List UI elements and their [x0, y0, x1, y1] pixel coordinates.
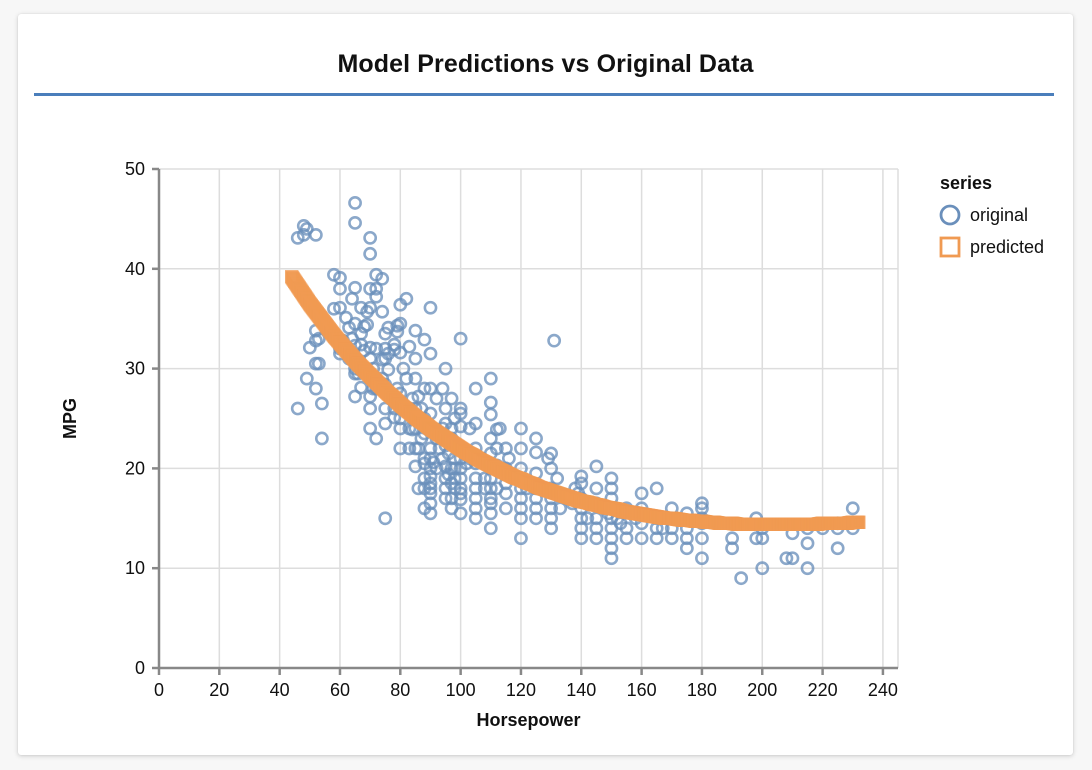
x-tick-label: 180 [687, 680, 717, 700]
chart-plot-container: 0204060801001201401601802002202400102030… [18, 14, 1073, 755]
x-tick-label: 80 [390, 680, 410, 700]
data-point-original [425, 302, 436, 313]
data-point-original [316, 433, 327, 444]
chart-axes [152, 169, 898, 675]
data-point-original [485, 409, 496, 420]
data-point-original [316, 398, 327, 409]
data-point-original [425, 348, 436, 359]
legend-marker-circle-icon [941, 206, 959, 224]
x-tick-label: 160 [627, 680, 657, 700]
data-point-original [552, 473, 563, 484]
data-point-original [847, 503, 858, 514]
data-point-original [832, 543, 843, 554]
legend-label-predicted: predicted [970, 237, 1044, 257]
data-point-original [410, 325, 421, 336]
data-point-original [404, 341, 415, 352]
data-point-original [446, 393, 457, 404]
data-point-original [310, 383, 321, 394]
data-point-original [591, 461, 602, 472]
x-tick-label: 240 [868, 680, 898, 700]
chart-card: Model Predictions vs Original Data 02040… [18, 14, 1073, 755]
data-point-original [377, 306, 388, 317]
data-point-original [530, 447, 541, 458]
y-tick-label: 20 [125, 458, 145, 478]
chart-legend[interactable]: seriesoriginalpredicted [940, 173, 1044, 257]
data-point-original [802, 538, 813, 549]
y-axis-title: MPG [60, 398, 80, 439]
legend-marker-square-icon [941, 238, 959, 256]
data-point-original [470, 383, 481, 394]
y-tick-label: 30 [125, 359, 145, 379]
x-tick-label: 0 [154, 680, 164, 700]
x-tick-label: 200 [747, 680, 777, 700]
data-point-original [301, 373, 312, 384]
legend-title: series [940, 173, 992, 193]
data-point-original [310, 229, 321, 240]
data-point-original [485, 373, 496, 384]
legend-item-predicted[interactable]: predicted [941, 237, 1044, 257]
x-tick-label: 20 [209, 680, 229, 700]
data-point-original [530, 433, 541, 444]
y-tick-label: 40 [125, 259, 145, 279]
data-point-original [437, 383, 448, 394]
x-axis-title: Horsepower [476, 710, 580, 730]
y-tick-label: 0 [135, 658, 145, 678]
data-point-original [485, 523, 496, 534]
data-point-original [410, 353, 421, 364]
data-point-original [380, 513, 391, 524]
x-tick-label: 140 [566, 680, 596, 700]
screenshot-root: Model Predictions vs Original Data 02040… [0, 0, 1092, 770]
data-point-original [500, 503, 511, 514]
legend-label-original: original [970, 205, 1028, 225]
data-point-original [365, 248, 376, 259]
data-point-original [292, 403, 303, 414]
data-point-original [371, 291, 382, 302]
data-point-original [365, 403, 376, 414]
data-point-original [485, 397, 496, 408]
data-point-original [549, 335, 560, 346]
data-point-original [736, 573, 747, 584]
data-point-original [651, 483, 662, 494]
data-point-original [383, 364, 394, 375]
data-point-original [419, 334, 430, 345]
data-point-original [349, 282, 360, 293]
data-point-original [591, 483, 602, 494]
x-tick-label: 120 [506, 680, 536, 700]
data-point-original [346, 293, 357, 304]
data-point-original [349, 217, 360, 228]
y-tick-label: 10 [125, 558, 145, 578]
x-tick-label: 40 [270, 680, 290, 700]
x-tick-label: 100 [446, 680, 476, 700]
data-point-original [349, 197, 360, 208]
x-tick-label: 60 [330, 680, 350, 700]
scatter-chart: 0204060801001201401601802002202400102030… [18, 14, 1073, 755]
x-tick-label: 220 [808, 680, 838, 700]
legend-item-original[interactable]: original [941, 205, 1028, 225]
data-point-original [365, 232, 376, 243]
chart-gridlines [159, 169, 898, 668]
data-point-original [371, 433, 382, 444]
chart-tick-labels: 0204060801001201401601802002202400102030… [125, 159, 898, 700]
y-tick-label: 50 [125, 159, 145, 179]
